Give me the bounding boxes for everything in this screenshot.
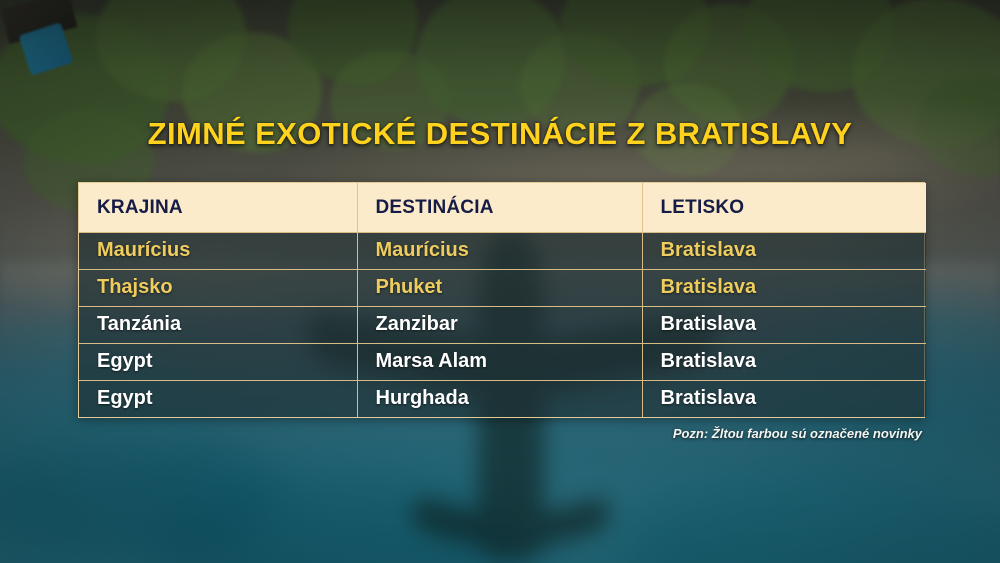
table-row: Egypt Hurghada Bratislava: [79, 381, 926, 418]
cell-airport: Bratislava: [642, 381, 926, 418]
cell-country: Egypt: [79, 344, 357, 381]
table-row: Maurícius Maurícius Bratislava: [79, 233, 926, 270]
cell-destination: Zanzibar: [357, 307, 642, 344]
destinations-table-container: KRAJINA DESTINÁCIA LETISKO Maurícius Mau…: [78, 182, 925, 418]
table-row: Tanzánia Zanzibar Bratislava: [79, 307, 926, 344]
destinations-table: KRAJINA DESTINÁCIA LETISKO Maurícius Mau…: [79, 183, 926, 417]
footnote-text: Pozn: Žltou farbou sú označené novinky: [673, 426, 922, 441]
cell-country: Egypt: [79, 381, 357, 418]
table-row: Egypt Marsa Alam Bratislava: [79, 344, 926, 381]
table-header-row: KRAJINA DESTINÁCIA LETISKO: [79, 183, 926, 233]
cell-destination: Maurícius: [357, 233, 642, 270]
cell-destination: Hurghada: [357, 381, 642, 418]
cell-country: Maurícius: [79, 233, 357, 270]
cell-destination: Marsa Alam: [357, 344, 642, 381]
table-header: KRAJINA DESTINÁCIA LETISKO: [79, 183, 926, 233]
slide-canvas: ZIMNÉ EXOTICKÉ DESTINÁCIE Z BRATISLAVY K…: [0, 0, 1000, 563]
column-header-destination: DESTINÁCIA: [357, 183, 642, 233]
cell-airport: Bratislava: [642, 233, 926, 270]
cell-country: Tanzánia: [79, 307, 357, 344]
page-title: ZIMNÉ EXOTICKÉ DESTINÁCIE Z BRATISLAVY: [0, 116, 1000, 152]
table-body: Maurícius Maurícius Bratislava Thajsko P…: [79, 233, 926, 418]
cell-airport: Bratislava: [642, 344, 926, 381]
column-header-country: KRAJINA: [79, 183, 357, 233]
cell-destination: Phuket: [357, 270, 642, 307]
cell-airport: Bratislava: [642, 307, 926, 344]
column-header-airport: LETISKO: [642, 183, 926, 233]
cell-airport: Bratislava: [642, 270, 926, 307]
cell-country: Thajsko: [79, 270, 357, 307]
table-row: Thajsko Phuket Bratislava: [79, 270, 926, 307]
